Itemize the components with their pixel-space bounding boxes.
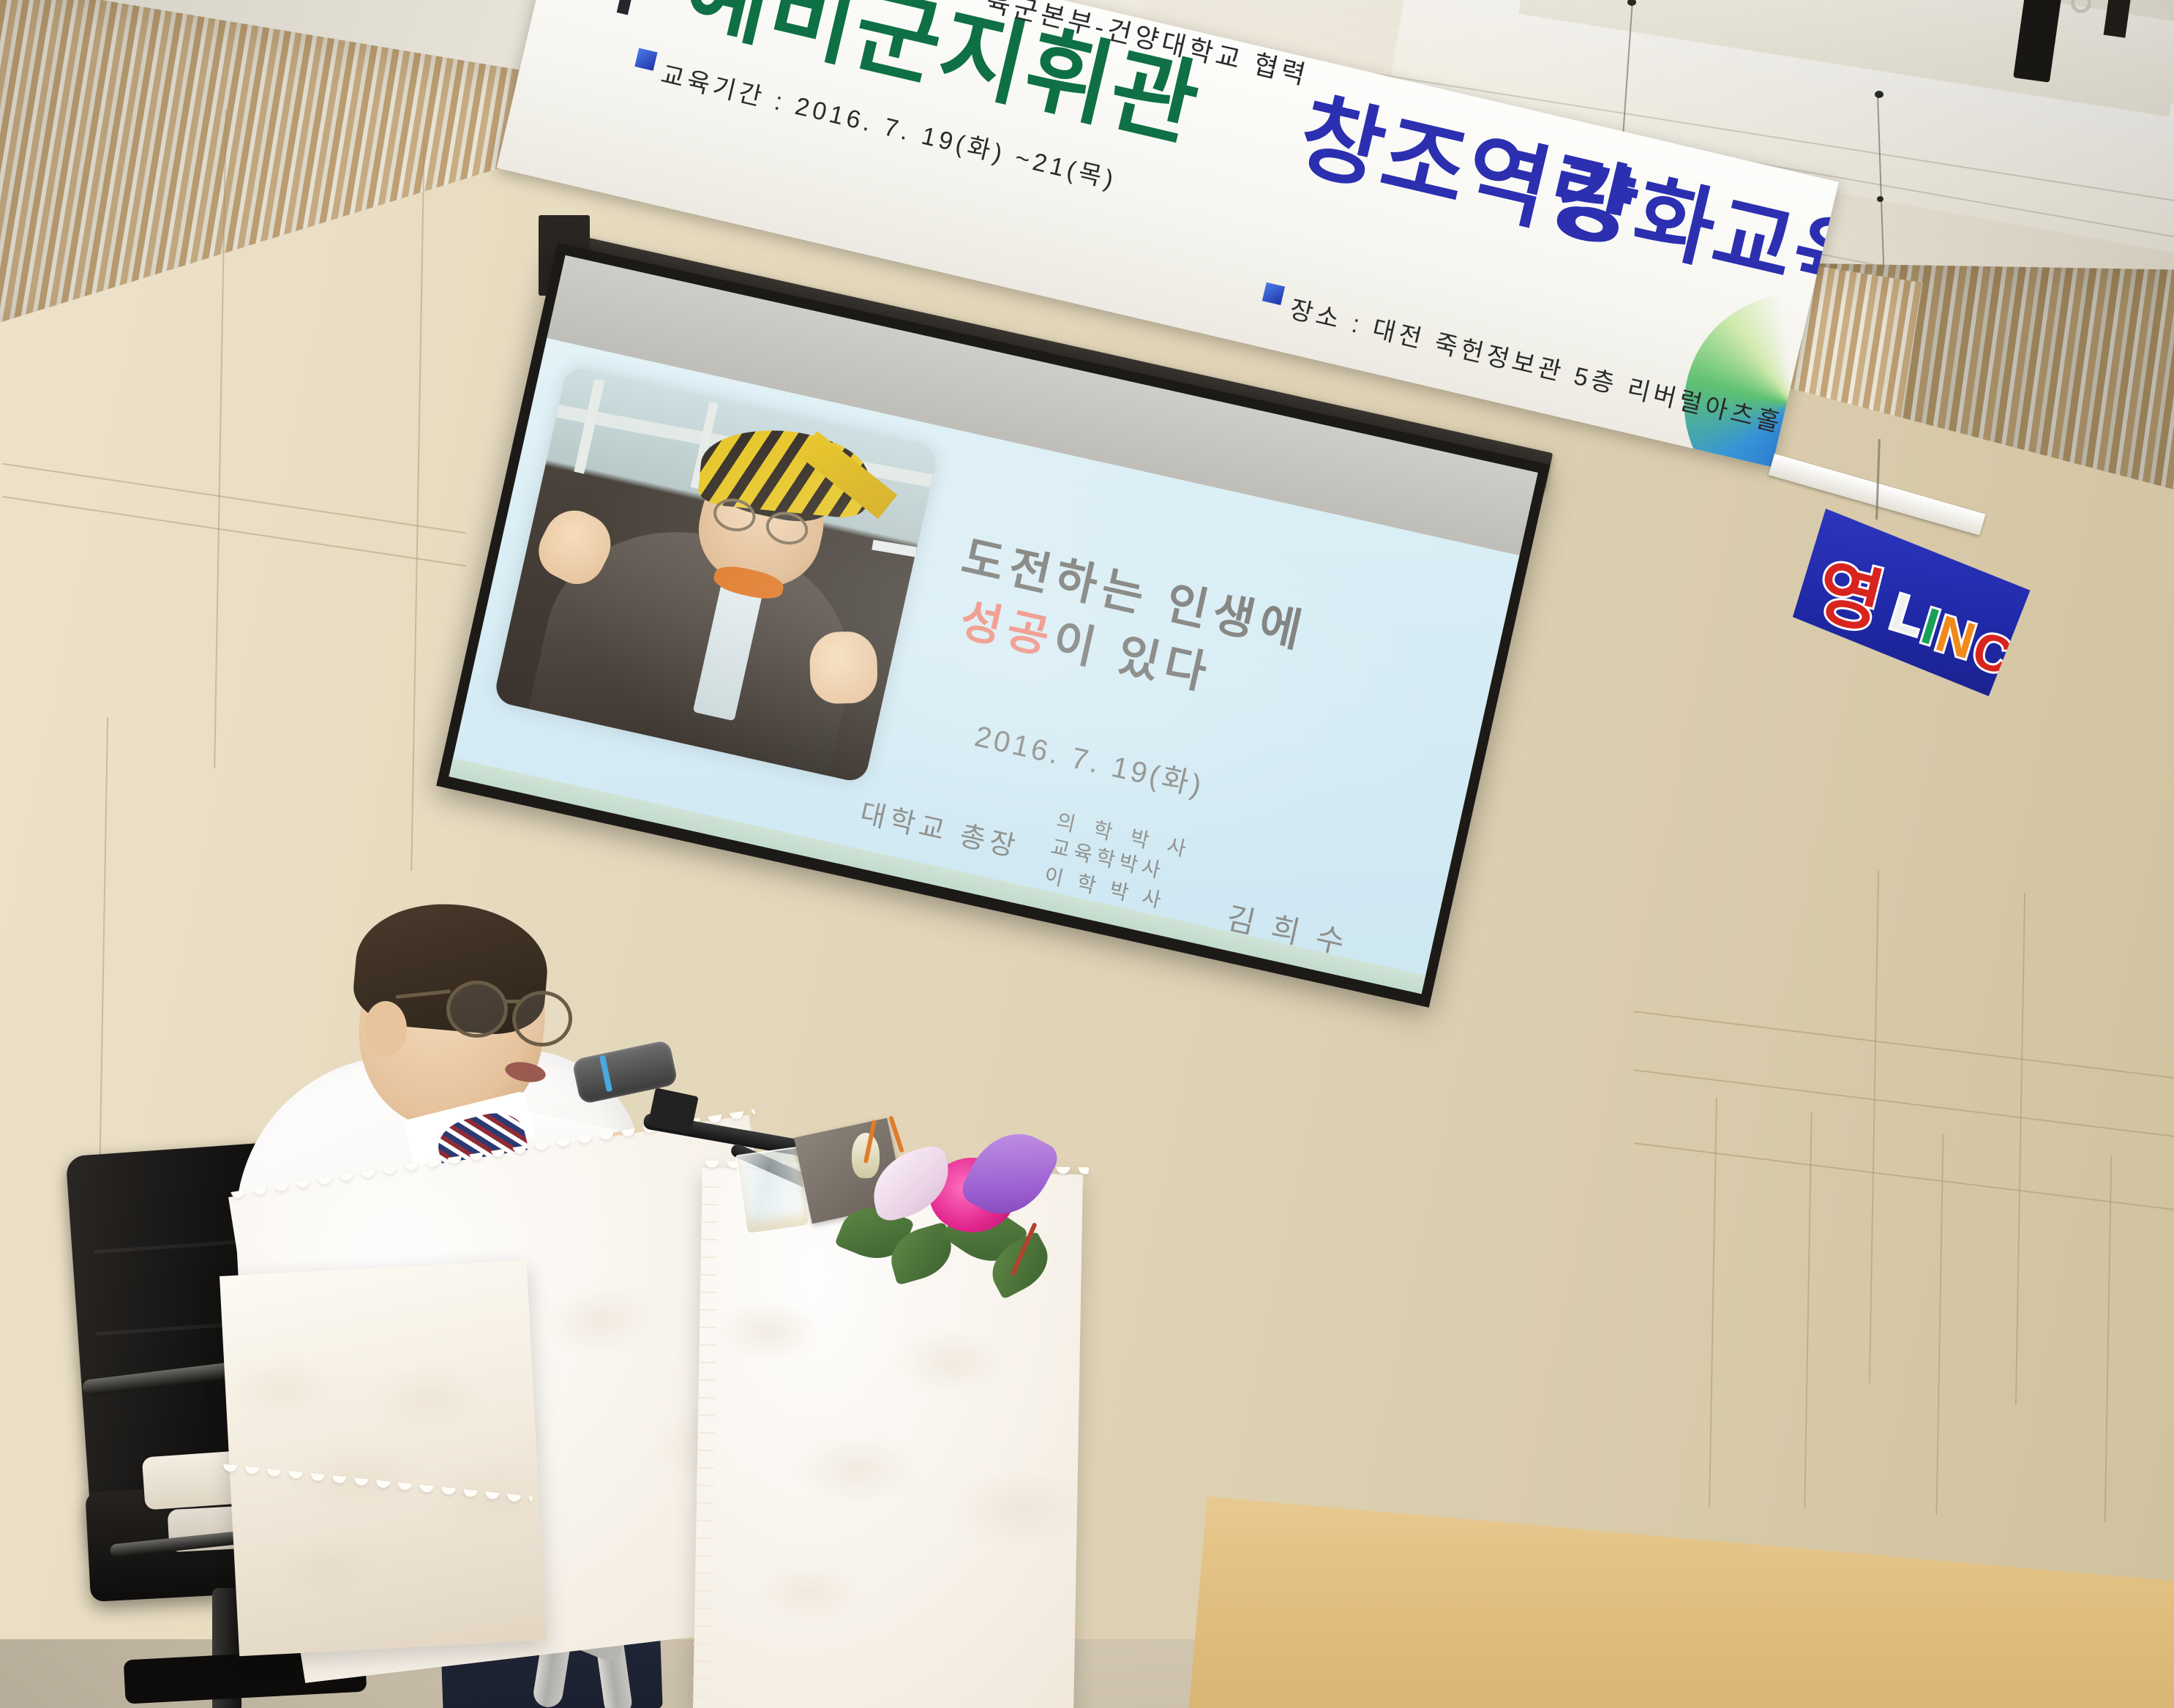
podium	[0, 0, 2174, 1708]
flower-bouquet	[820, 1120, 1061, 1310]
podium-left-cloth	[220, 1260, 547, 1656]
lecture-hall-photo: 국 예비군지휘관 창조역량 강화교육 과정 육군본부-건양대학교 협력 교육기간…	[0, 0, 2174, 1708]
